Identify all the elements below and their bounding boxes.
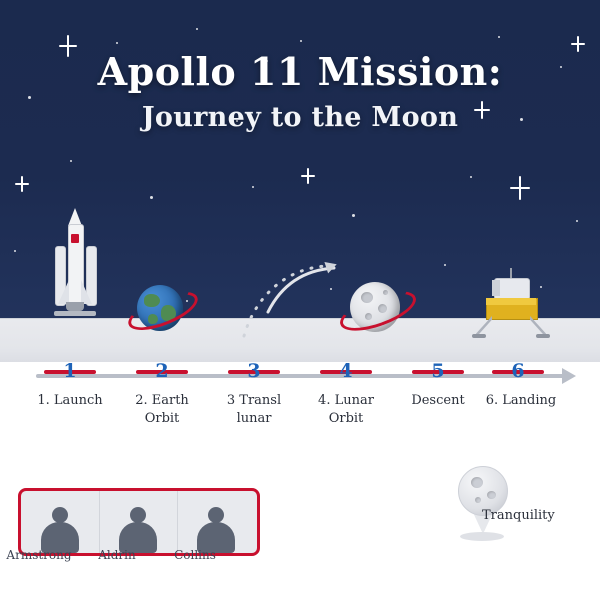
timeline-step-number-6: 6: [492, 360, 544, 382]
lander-foot-left: [472, 334, 486, 338]
star-icon: [116, 42, 118, 44]
lander-antenna: [510, 268, 512, 278]
silhouette-head: [52, 507, 68, 523]
star-icon: [150, 196, 153, 199]
star-icon: [498, 36, 500, 38]
trajectory-arrow-icon: [238, 250, 348, 338]
crew-panel: [18, 488, 260, 556]
star-icon: [352, 214, 355, 217]
crew-name-collins: Collins: [150, 548, 240, 562]
timeline-step-number-1: 1: [44, 360, 96, 382]
lander-foot-right: [536, 334, 550, 338]
map-pin-moon-icon: [452, 466, 512, 542]
timeline-step-label-5: Descent: [395, 392, 481, 410]
timeline-step-label-1: 1. Launch: [27, 392, 113, 410]
star-icon: [470, 176, 472, 178]
lunar-module-icon: [470, 276, 552, 342]
crew-divider: [177, 491, 178, 553]
timeline-arrowhead: [562, 368, 576, 384]
earth-icon: [130, 278, 190, 338]
silhouette-head: [208, 507, 224, 523]
astronaut-silhouette-icon: [37, 503, 83, 553]
star-icon: [300, 40, 302, 42]
title-main: Apollo 11 Mission:: [0, 52, 600, 92]
pin-crater: [475, 497, 481, 503]
star-icon: [576, 220, 578, 222]
lander-panel: [492, 280, 500, 296]
timeline-step-number-4: 4: [320, 360, 372, 382]
star-icon: [444, 264, 446, 266]
lander-descent-highlight: [486, 298, 536, 305]
timeline-step-label-2: 2. Earth Orbit: [119, 392, 205, 427]
timeline-step-label-4: 4. Lunar Orbit: [303, 392, 389, 427]
pin-shadow: [460, 532, 504, 541]
rocket-marking: [71, 234, 79, 243]
timeline-axis: [36, 374, 564, 378]
silhouette-head: [130, 507, 146, 523]
landing-site-label: Tranquility: [482, 508, 600, 523]
astronaut-silhouette-icon: [115, 503, 161, 553]
title-subtitle: Journey to the Moon: [0, 102, 600, 133]
apollo-11-infographic: Apollo 11 Mission: Journey to the Moon: [0, 0, 600, 600]
timeline-step-label-3: 3 Transl lunar: [211, 392, 297, 427]
pin-crater: [471, 477, 483, 488]
lander-leg-left: [476, 316, 492, 336]
star-icon: [70, 160, 72, 162]
moon-icon: [342, 276, 408, 342]
star-icon: [196, 28, 198, 30]
rocket-icon: [46, 206, 104, 318]
timeline-step-number-5: 5: [412, 360, 464, 382]
pin-crater: [487, 491, 496, 499]
poster-title: Apollo 11 Mission: Journey to the Moon: [0, 52, 600, 133]
astronaut-silhouette-icon: [193, 503, 239, 553]
star-icon: [14, 250, 16, 252]
timeline-step-label-6: 6. Landing: [478, 392, 564, 410]
timeline-step-number-3: 3: [228, 360, 280, 382]
lander-leg-right: [530, 316, 546, 336]
crew-divider: [99, 491, 100, 553]
rocket-engine: [66, 302, 84, 311]
launch-pad: [54, 311, 96, 316]
crew-name-aldrin: Aldrin: [72, 548, 162, 562]
timeline-step-number-2: 2: [136, 360, 188, 382]
star-icon: [252, 186, 254, 188]
